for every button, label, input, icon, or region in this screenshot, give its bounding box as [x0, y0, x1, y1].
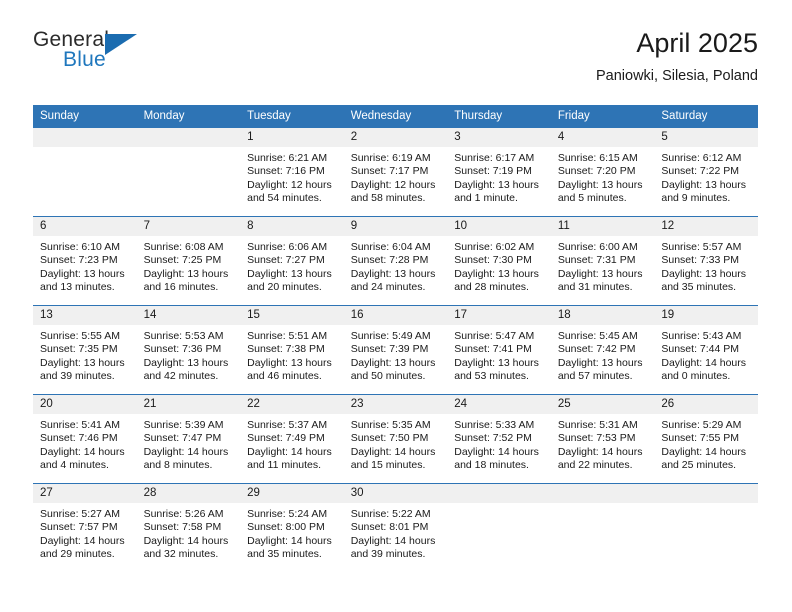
- daylight-text-line1: Daylight: 13 hours: [351, 357, 442, 370]
- daylight-text-line2: and 5 minutes.: [558, 192, 649, 205]
- page-header: General Blue April 2025 Paniowki, Silesi…: [33, 26, 758, 96]
- calendar-day-cell-empty: [654, 484, 758, 573]
- daylight-text-line1: Daylight: 13 hours: [558, 357, 649, 370]
- daylight-text-line1: Daylight: 14 hours: [40, 446, 131, 459]
- calendar-day-cell[interactable]: 2Sunrise: 6:19 AMSunset: 7:17 PMDaylight…: [344, 128, 448, 217]
- calendar-week-row: 13Sunrise: 5:55 AMSunset: 7:35 PMDayligh…: [33, 306, 758, 395]
- day-number: 8: [240, 217, 344, 236]
- weekday-header-thursday: Thursday: [447, 105, 551, 128]
- calendar-day-cell[interactable]: 5Sunrise: 6:12 AMSunset: 7:22 PMDaylight…: [654, 128, 758, 217]
- triangle-logo-icon: [105, 34, 137, 55]
- day-number: [33, 128, 137, 147]
- day-details: Sunrise: 5:37 AMSunset: 7:49 PMDaylight:…: [240, 414, 344, 473]
- logo-text-blue: Blue: [63, 48, 106, 72]
- daylight-text-line1: Daylight: 13 hours: [144, 357, 235, 370]
- day-details: Sunrise: 5:33 AMSunset: 7:52 PMDaylight:…: [447, 414, 551, 473]
- day-details: Sunrise: 6:21 AMSunset: 7:16 PMDaylight:…: [240, 147, 344, 206]
- day-number: 2: [344, 128, 448, 147]
- sunset-text: Sunset: 8:00 PM: [247, 521, 338, 534]
- calendar-day-cell-empty: [551, 484, 655, 573]
- day-details: Sunrise: 5:35 AMSunset: 7:50 PMDaylight:…: [344, 414, 448, 473]
- day-number: 11: [551, 217, 655, 236]
- daylight-text-line1: Daylight: 13 hours: [454, 357, 545, 370]
- daylight-text-line2: and 32 minutes.: [144, 548, 235, 561]
- sunrise-text: Sunrise: 6:19 AM: [351, 152, 442, 165]
- sunset-text: Sunset: 7:35 PM: [40, 343, 131, 356]
- daylight-text-line1: Daylight: 14 hours: [144, 446, 235, 459]
- day-details: Sunrise: 5:26 AMSunset: 7:58 PMDaylight:…: [137, 503, 241, 562]
- daylight-text-line1: Daylight: 14 hours: [351, 446, 442, 459]
- day-number: [137, 128, 241, 147]
- daylight-text-line2: and 15 minutes.: [351, 459, 442, 472]
- sunset-text: Sunset: 7:47 PM: [144, 432, 235, 445]
- day-number: 3: [447, 128, 551, 147]
- daylight-text-line1: Daylight: 14 hours: [351, 535, 442, 548]
- day-details: Sunrise: 6:08 AMSunset: 7:25 PMDaylight:…: [137, 236, 241, 295]
- day-details: Sunrise: 6:02 AMSunset: 7:30 PMDaylight:…: [447, 236, 551, 295]
- sunrise-text: Sunrise: 6:04 AM: [351, 241, 442, 254]
- sunset-text: Sunset: 7:38 PM: [247, 343, 338, 356]
- sunrise-text: Sunrise: 5:41 AM: [40, 419, 131, 432]
- daylight-text-line2: and 50 minutes.: [351, 370, 442, 383]
- daylight-text-line1: Daylight: 14 hours: [144, 535, 235, 548]
- sunset-text: Sunset: 7:53 PM: [558, 432, 649, 445]
- daylight-text-line2: and 11 minutes.: [247, 459, 338, 472]
- day-details: Sunrise: 5:43 AMSunset: 7:44 PMDaylight:…: [654, 325, 758, 384]
- calendar-day-cell[interactable]: 20Sunrise: 5:41 AMSunset: 7:46 PMDayligh…: [33, 395, 137, 484]
- day-details: Sunrise: 6:12 AMSunset: 7:22 PMDaylight:…: [654, 147, 758, 206]
- day-details: Sunrise: 5:22 AMSunset: 8:01 PMDaylight:…: [344, 503, 448, 562]
- day-number: 9: [344, 217, 448, 236]
- day-number: 14: [137, 306, 241, 325]
- sunrise-text: Sunrise: 5:37 AM: [247, 419, 338, 432]
- day-details: Sunrise: 6:19 AMSunset: 7:17 PMDaylight:…: [344, 147, 448, 206]
- weekday-header-tuesday: Tuesday: [240, 105, 344, 128]
- calendar-day-cell[interactable]: 9Sunrise: 6:04 AMSunset: 7:28 PMDaylight…: [344, 217, 448, 306]
- day-number: 15: [240, 306, 344, 325]
- daylight-text-line1: Daylight: 13 hours: [661, 179, 752, 192]
- sunset-text: Sunset: 7:36 PM: [144, 343, 235, 356]
- sunrise-text: Sunrise: 5:31 AM: [558, 419, 649, 432]
- sunset-text: Sunset: 7:27 PM: [247, 254, 338, 267]
- sunrise-text: Sunrise: 6:08 AM: [144, 241, 235, 254]
- sunrise-text: Sunrise: 6:21 AM: [247, 152, 338, 165]
- day-number: 28: [137, 484, 241, 503]
- general-blue-logo[interactable]: General Blue: [33, 26, 233, 82]
- sunrise-text: Sunrise: 5:49 AM: [351, 330, 442, 343]
- daylight-text-line1: Daylight: 13 hours: [247, 357, 338, 370]
- daylight-text-line1: Daylight: 13 hours: [144, 268, 235, 281]
- day-details: Sunrise: 5:27 AMSunset: 7:57 PMDaylight:…: [33, 503, 137, 562]
- daylight-text-line2: and 22 minutes.: [558, 459, 649, 472]
- daylight-text-line2: and 13 minutes.: [40, 281, 131, 294]
- day-number: 4: [551, 128, 655, 147]
- daylight-text-line2: and 57 minutes.: [558, 370, 649, 383]
- day-number: 23: [344, 395, 448, 414]
- day-number: 30: [344, 484, 448, 503]
- title-block: April 2025 Paniowki, Silesia, Poland: [596, 26, 758, 87]
- calendar-day-cell[interactable]: 19Sunrise: 5:43 AMSunset: 7:44 PMDayligh…: [654, 306, 758, 395]
- weekday-header-saturday: Saturday: [654, 105, 758, 128]
- day-number: 26: [654, 395, 758, 414]
- day-number: 24: [447, 395, 551, 414]
- daylight-text-line2: and 46 minutes.: [247, 370, 338, 383]
- sunrise-text: Sunrise: 6:12 AM: [661, 152, 752, 165]
- day-details: [137, 147, 241, 152]
- daylight-text-line1: Daylight: 14 hours: [661, 446, 752, 459]
- daylight-text-line1: Daylight: 13 hours: [454, 268, 545, 281]
- calendar-day-cell[interactable]: 4Sunrise: 6:15 AMSunset: 7:20 PMDaylight…: [551, 128, 655, 217]
- daylight-text-line1: Daylight: 12 hours: [247, 179, 338, 192]
- sunset-text: Sunset: 7:20 PM: [558, 165, 649, 178]
- daylight-text-line2: and 20 minutes.: [247, 281, 338, 294]
- day-number: 27: [33, 484, 137, 503]
- calendar-day-cell[interactable]: 6Sunrise: 6:10 AMSunset: 7:23 PMDaylight…: [33, 217, 137, 306]
- daylight-text-line1: Daylight: 13 hours: [351, 268, 442, 281]
- daylight-text-line1: Daylight: 14 hours: [454, 446, 545, 459]
- calendar-week-row: 1Sunrise: 6:21 AMSunset: 7:16 PMDaylight…: [33, 128, 758, 217]
- sunrise-text: Sunrise: 6:17 AM: [454, 152, 545, 165]
- sunrise-text: Sunrise: 5:22 AM: [351, 508, 442, 521]
- sunset-text: Sunset: 7:33 PM: [661, 254, 752, 267]
- daylight-text-line1: Daylight: 14 hours: [40, 535, 131, 548]
- calendar-day-cell[interactable]: 10Sunrise: 6:02 AMSunset: 7:30 PMDayligh…: [447, 217, 551, 306]
- sunset-text: Sunset: 7:52 PM: [454, 432, 545, 445]
- sunrise-text: Sunrise: 5:55 AM: [40, 330, 131, 343]
- daylight-text-line1: Daylight: 13 hours: [40, 357, 131, 370]
- sunrise-text: Sunrise: 5:29 AM: [661, 419, 752, 432]
- daylight-text-line2: and 18 minutes.: [454, 459, 545, 472]
- calendar-week-row: 20Sunrise: 5:41 AMSunset: 7:46 PMDayligh…: [33, 395, 758, 484]
- weekday-header-wednesday: Wednesday: [344, 105, 448, 128]
- daylight-text-line2: and 9 minutes.: [661, 192, 752, 205]
- day-details: Sunrise: 5:45 AMSunset: 7:42 PMDaylight:…: [551, 325, 655, 384]
- daylight-text-line2: and 25 minutes.: [661, 459, 752, 472]
- calendar-day-cell[interactable]: 3Sunrise: 6:17 AMSunset: 7:19 PMDaylight…: [447, 128, 551, 217]
- daylight-text-line1: Daylight: 13 hours: [454, 179, 545, 192]
- day-number: 10: [447, 217, 551, 236]
- day-number: 6: [33, 217, 137, 236]
- calendar-day-cell[interactable]: 16Sunrise: 5:49 AMSunset: 7:39 PMDayligh…: [344, 306, 448, 395]
- daylight-text-line2: and 39 minutes.: [351, 548, 442, 561]
- day-details: Sunrise: 6:04 AMSunset: 7:28 PMDaylight:…: [344, 236, 448, 295]
- day-number: 13: [33, 306, 137, 325]
- daylight-text-line2: and 58 minutes.: [351, 192, 442, 205]
- daylight-text-line2: and 35 minutes.: [661, 281, 752, 294]
- sunrise-text: Sunrise: 5:33 AM: [454, 419, 545, 432]
- sunrise-text: Sunrise: 5:27 AM: [40, 508, 131, 521]
- sunset-text: Sunset: 7:25 PM: [144, 254, 235, 267]
- sunset-text: Sunset: 7:58 PM: [144, 521, 235, 534]
- sunset-text: Sunset: 7:23 PM: [40, 254, 131, 267]
- calendar-day-cell[interactable]: 25Sunrise: 5:31 AMSunset: 7:53 PMDayligh…: [551, 395, 655, 484]
- calendar-header-row: SundayMondayTuesdayWednesdayThursdayFrid…: [33, 105, 758, 128]
- day-details: Sunrise: 5:41 AMSunset: 7:46 PMDaylight:…: [33, 414, 137, 473]
- day-details: Sunrise: 5:31 AMSunset: 7:53 PMDaylight:…: [551, 414, 655, 473]
- day-details: Sunrise: 6:00 AMSunset: 7:31 PMDaylight:…: [551, 236, 655, 295]
- day-details: Sunrise: 6:10 AMSunset: 7:23 PMDaylight:…: [33, 236, 137, 295]
- day-number: 25: [551, 395, 655, 414]
- daylight-text-line1: Daylight: 13 hours: [40, 268, 131, 281]
- sunset-text: Sunset: 7:16 PM: [247, 165, 338, 178]
- daylight-text-line1: Daylight: 14 hours: [558, 446, 649, 459]
- day-number: 21: [137, 395, 241, 414]
- calendar-day-cell[interactable]: 7Sunrise: 6:08 AMSunset: 7:25 PMDaylight…: [137, 217, 241, 306]
- sunrise-text: Sunrise: 5:53 AM: [144, 330, 235, 343]
- day-number: 17: [447, 306, 551, 325]
- sunrise-text: Sunrise: 5:51 AM: [247, 330, 338, 343]
- sunset-text: Sunset: 7:49 PM: [247, 432, 338, 445]
- daylight-text-line1: Daylight: 13 hours: [661, 268, 752, 281]
- day-details: [447, 503, 551, 508]
- sunrise-text: Sunrise: 5:43 AM: [661, 330, 752, 343]
- weekday-header-sunday: Sunday: [33, 105, 137, 128]
- day-number: 18: [551, 306, 655, 325]
- daylight-text-line2: and 4 minutes.: [40, 459, 131, 472]
- daylight-text-line2: and 29 minutes.: [40, 548, 131, 561]
- day-number: [551, 484, 655, 503]
- daylight-text-line2: and 54 minutes.: [247, 192, 338, 205]
- day-details: Sunrise: 5:39 AMSunset: 7:47 PMDaylight:…: [137, 414, 241, 473]
- day-details: Sunrise: 6:06 AMSunset: 7:27 PMDaylight:…: [240, 236, 344, 295]
- calendar-day-cell[interactable]: 11Sunrise: 6:00 AMSunset: 7:31 PMDayligh…: [551, 217, 655, 306]
- calendar-day-cell[interactable]: 26Sunrise: 5:29 AMSunset: 7:55 PMDayligh…: [654, 395, 758, 484]
- daylight-text-line2: and 31 minutes.: [558, 281, 649, 294]
- calendar-day-cell-empty: [137, 128, 241, 217]
- daylight-text-line1: Daylight: 12 hours: [351, 179, 442, 192]
- sunset-text: Sunset: 7:50 PM: [351, 432, 442, 445]
- daylight-text-line2: and 1 minute.: [454, 192, 545, 205]
- day-details: Sunrise: 5:29 AMSunset: 7:55 PMDaylight:…: [654, 414, 758, 473]
- day-number: [654, 484, 758, 503]
- sunrise-text: Sunrise: 5:26 AM: [144, 508, 235, 521]
- calendar-day-cell[interactable]: 1Sunrise: 6:21 AMSunset: 7:16 PMDaylight…: [240, 128, 344, 217]
- calendar-day-cell[interactable]: 28Sunrise: 5:26 AMSunset: 7:58 PMDayligh…: [137, 484, 241, 573]
- sunset-text: Sunset: 7:19 PM: [454, 165, 545, 178]
- sunrise-text: Sunrise: 6:00 AM: [558, 241, 649, 254]
- sunset-text: Sunset: 7:41 PM: [454, 343, 545, 356]
- page-title: April 2025: [596, 26, 758, 60]
- sunset-text: Sunset: 7:46 PM: [40, 432, 131, 445]
- sunrise-text: Sunrise: 6:15 AM: [558, 152, 649, 165]
- day-details: [654, 503, 758, 508]
- calendar-day-cell[interactable]: 27Sunrise: 5:27 AMSunset: 7:57 PMDayligh…: [33, 484, 137, 573]
- day-details: Sunrise: 5:49 AMSunset: 7:39 PMDaylight:…: [344, 325, 448, 384]
- sunrise-text: Sunrise: 5:39 AM: [144, 419, 235, 432]
- daylight-text-line2: and 28 minutes.: [454, 281, 545, 294]
- sunrise-text: Sunrise: 6:06 AM: [247, 241, 338, 254]
- daylight-text-line2: and 16 minutes.: [144, 281, 235, 294]
- day-number: 5: [654, 128, 758, 147]
- sunrise-text: Sunrise: 6:10 AM: [40, 241, 131, 254]
- calendar-page: General Blue April 2025 Paniowki, Silesi…: [0, 0, 792, 612]
- day-details: Sunrise: 5:57 AMSunset: 7:33 PMDaylight:…: [654, 236, 758, 295]
- calendar-day-cell[interactable]: 29Sunrise: 5:24 AMSunset: 8:00 PMDayligh…: [240, 484, 344, 573]
- sunset-text: Sunset: 7:22 PM: [661, 165, 752, 178]
- calendar-day-cell-empty: [33, 128, 137, 217]
- daylight-text-line1: Daylight: 14 hours: [661, 357, 752, 370]
- day-number: 7: [137, 217, 241, 236]
- day-number: 19: [654, 306, 758, 325]
- calendar-week-row: 6Sunrise: 6:10 AMSunset: 7:23 PMDaylight…: [33, 217, 758, 306]
- day-details: Sunrise: 6:17 AMSunset: 7:19 PMDaylight:…: [447, 147, 551, 206]
- sunrise-text: Sunrise: 6:02 AM: [454, 241, 545, 254]
- daylight-text-line1: Daylight: 13 hours: [558, 268, 649, 281]
- sunrise-text: Sunrise: 5:47 AM: [454, 330, 545, 343]
- day-details: [33, 147, 137, 152]
- sunrise-text: Sunrise: 5:24 AM: [247, 508, 338, 521]
- daylight-text-line2: and 42 minutes.: [144, 370, 235, 383]
- sunset-text: Sunset: 7:55 PM: [661, 432, 752, 445]
- day-details: Sunrise: 5:53 AMSunset: 7:36 PMDaylight:…: [137, 325, 241, 384]
- day-details: Sunrise: 5:47 AMSunset: 7:41 PMDaylight:…: [447, 325, 551, 384]
- sunset-text: Sunset: 7:39 PM: [351, 343, 442, 356]
- daylight-text-line2: and 24 minutes.: [351, 281, 442, 294]
- calendar-day-cell[interactable]: 15Sunrise: 5:51 AMSunset: 7:38 PMDayligh…: [240, 306, 344, 395]
- sunrise-text: Sunrise: 5:35 AM: [351, 419, 442, 432]
- day-number: 1: [240, 128, 344, 147]
- daylight-text-line1: Daylight: 13 hours: [558, 179, 649, 192]
- day-number: 22: [240, 395, 344, 414]
- sunset-text: Sunset: 7:57 PM: [40, 521, 131, 534]
- calendar-day-cell[interactable]: 21Sunrise: 5:39 AMSunset: 7:47 PMDayligh…: [137, 395, 241, 484]
- sunrise-text: Sunrise: 5:57 AM: [661, 241, 752, 254]
- sunset-text: Sunset: 7:44 PM: [661, 343, 752, 356]
- calendar-day-cell[interactable]: 22Sunrise: 5:37 AMSunset: 7:49 PMDayligh…: [240, 395, 344, 484]
- calendar-day-cell[interactable]: 8Sunrise: 6:06 AMSunset: 7:27 PMDaylight…: [240, 217, 344, 306]
- calendar-day-cell[interactable]: 14Sunrise: 5:53 AMSunset: 7:36 PMDayligh…: [137, 306, 241, 395]
- day-number: 29: [240, 484, 344, 503]
- calendar-day-cell[interactable]: 30Sunrise: 5:22 AMSunset: 8:01 PMDayligh…: [344, 484, 448, 573]
- day-number: [447, 484, 551, 503]
- day-details: [551, 503, 655, 508]
- sunset-text: Sunset: 7:42 PM: [558, 343, 649, 356]
- calendar-day-cell[interactable]: 24Sunrise: 5:33 AMSunset: 7:52 PMDayligh…: [447, 395, 551, 484]
- day-details: Sunrise: 5:51 AMSunset: 7:38 PMDaylight:…: [240, 325, 344, 384]
- calendar-table: SundayMondayTuesdayWednesdayThursdayFrid…: [33, 105, 758, 572]
- day-number: 12: [654, 217, 758, 236]
- sunrise-text: Sunrise: 5:45 AM: [558, 330, 649, 343]
- sunset-text: Sunset: 7:30 PM: [454, 254, 545, 267]
- calendar-day-cell[interactable]: 12Sunrise: 5:57 AMSunset: 7:33 PMDayligh…: [654, 217, 758, 306]
- sunset-text: Sunset: 7:31 PM: [558, 254, 649, 267]
- day-details: Sunrise: 5:55 AMSunset: 7:35 PMDaylight:…: [33, 325, 137, 384]
- day-details: Sunrise: 5:24 AMSunset: 8:00 PMDaylight:…: [240, 503, 344, 562]
- daylight-text-line2: and 39 minutes.: [40, 370, 131, 383]
- daylight-text-line2: and 8 minutes.: [144, 459, 235, 472]
- daylight-text-line2: and 0 minutes.: [661, 370, 752, 383]
- daylight-text-line2: and 53 minutes.: [454, 370, 545, 383]
- day-number: 20: [33, 395, 137, 414]
- day-details: Sunrise: 6:15 AMSunset: 7:20 PMDaylight:…: [551, 147, 655, 206]
- calendar-day-cell[interactable]: 23Sunrise: 5:35 AMSunset: 7:50 PMDayligh…: [344, 395, 448, 484]
- daylight-text-line1: Daylight: 13 hours: [247, 268, 338, 281]
- calendar-day-cell[interactable]: 18Sunrise: 5:45 AMSunset: 7:42 PMDayligh…: [551, 306, 655, 395]
- weekday-header-monday: Monday: [137, 105, 241, 128]
- calendar-body: 1Sunrise: 6:21 AMSunset: 7:16 PMDaylight…: [33, 128, 758, 573]
- daylight-text-line1: Daylight: 14 hours: [247, 535, 338, 548]
- sunset-text: Sunset: 7:28 PM: [351, 254, 442, 267]
- daylight-text-line1: Daylight: 14 hours: [247, 446, 338, 459]
- weekday-header-friday: Friday: [551, 105, 655, 128]
- calendar-day-cell[interactable]: 13Sunrise: 5:55 AMSunset: 7:35 PMDayligh…: [33, 306, 137, 395]
- calendar-week-row: 27Sunrise: 5:27 AMSunset: 7:57 PMDayligh…: [33, 484, 758, 573]
- sunset-text: Sunset: 7:17 PM: [351, 165, 442, 178]
- calendar-day-cell[interactable]: 17Sunrise: 5:47 AMSunset: 7:41 PMDayligh…: [447, 306, 551, 395]
- calendar-day-cell-empty: [447, 484, 551, 573]
- sunset-text: Sunset: 8:01 PM: [351, 521, 442, 534]
- daylight-text-line2: and 35 minutes.: [247, 548, 338, 561]
- day-number: 16: [344, 306, 448, 325]
- page-subtitle: Paniowki, Silesia, Poland: [596, 65, 758, 87]
